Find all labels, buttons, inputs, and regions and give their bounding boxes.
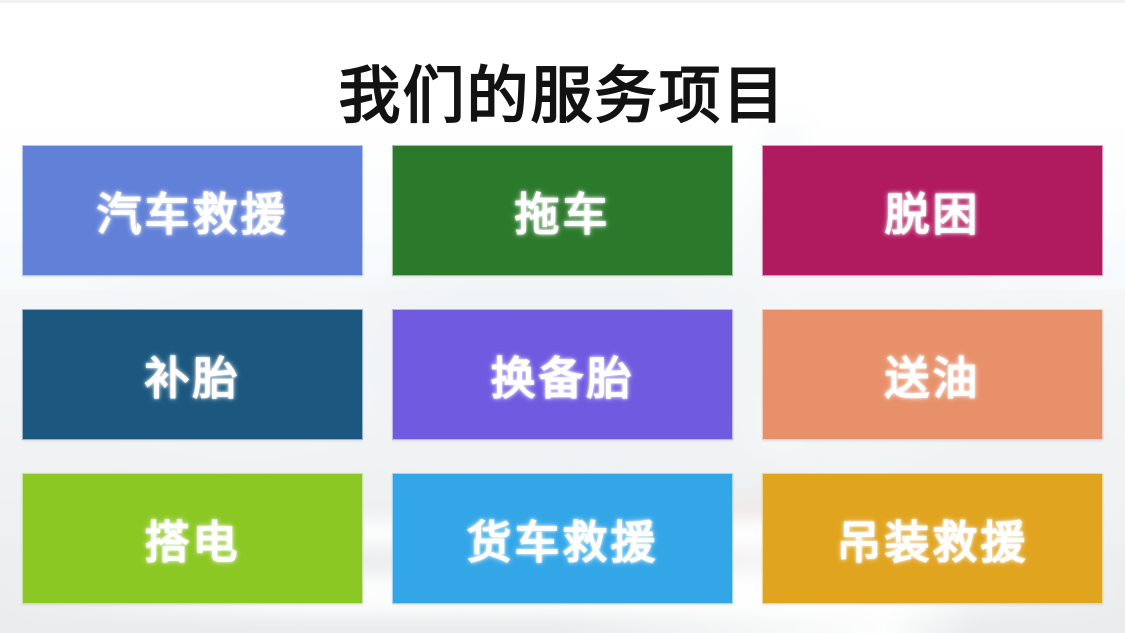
service-tile-3[interactable]: 补胎 <box>22 309 363 440</box>
service-tile-label: 补胎 <box>144 342 240 407</box>
page-title: 我们的服务项目 <box>0 64 1125 129</box>
service-tile-2[interactable]: 脱困 <box>762 145 1103 276</box>
service-tile-label: 换备胎 <box>490 342 634 407</box>
service-tile-6[interactable]: 搭电 <box>22 473 363 604</box>
service-tile-8[interactable]: 吊装救援 <box>762 473 1103 604</box>
service-tile-label: 汽车救援 <box>96 178 288 243</box>
service-tile-4[interactable]: 换备胎 <box>392 309 733 440</box>
top-edge-hairline <box>0 0 1125 3</box>
service-tile-label: 货车救援 <box>466 506 658 571</box>
service-tile-label: 送油 <box>884 342 980 407</box>
service-tile-1[interactable]: 拖车 <box>392 145 733 276</box>
service-tile-label: 脱困 <box>884 178 980 243</box>
service-grid: 汽车救援 拖车 脱困 补胎 换备胎 送油 搭电 货车救援 吊装救援 <box>22 145 1103 603</box>
service-tile-0[interactable]: 汽车救援 <box>22 145 363 276</box>
service-tile-label: 搭电 <box>144 506 240 571</box>
service-tile-5[interactable]: 送油 <box>762 309 1103 440</box>
service-poster: 我们的服务项目 汽车救援 拖车 脱困 补胎 换备胎 送油 搭电 货车救援 吊装救… <box>0 0 1125 633</box>
service-tile-7[interactable]: 货车救援 <box>392 473 733 604</box>
service-tile-label: 拖车 <box>514 178 610 243</box>
service-tile-label: 吊装救援 <box>836 506 1028 571</box>
